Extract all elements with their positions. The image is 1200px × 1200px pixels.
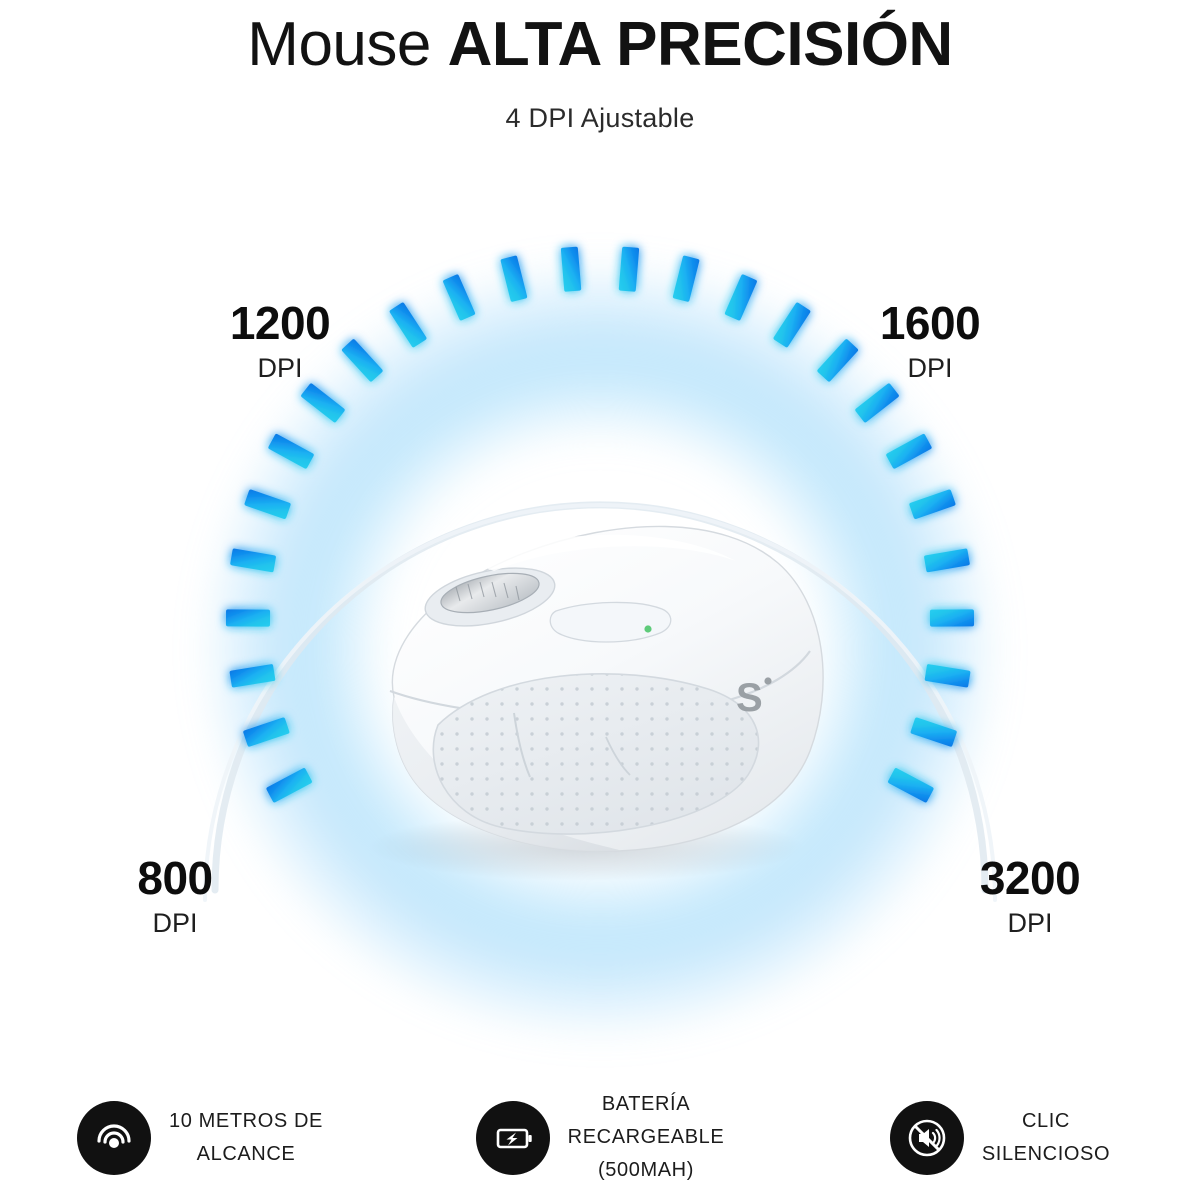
feature-battery: BATERÍA RECARGEABLE (500MAH) [400, 1088, 800, 1187]
arc-tick [909, 489, 956, 520]
arc-tick [244, 489, 291, 520]
arc-tick [561, 247, 582, 292]
arc-tick [389, 302, 427, 348]
dpi-label-1200: 1200 DPI [185, 300, 375, 382]
arc-tick [924, 548, 970, 572]
dpi-value: 1200 [230, 297, 330, 349]
arc-tick [855, 383, 900, 424]
dpi-unit: DPI [80, 910, 270, 937]
led-indicator [644, 625, 651, 632]
feature-row: 10 METROS DE ALCANCE BATERÍA RECARGEABLE… [0, 1075, 1200, 1200]
dpi-unit: DPI [835, 355, 1025, 382]
feature-silent-click: CLIC SILENCIOSO [800, 1101, 1200, 1175]
arc-tick [500, 255, 527, 302]
page-header: Mouse ALTA PRECISIÓN 4 DPI Ajustable [0, 0, 1200, 134]
brand-logo-dot [764, 677, 771, 684]
speaker-muted-icon [890, 1101, 964, 1175]
dpi-label-1600: 1600 DPI [835, 300, 1025, 382]
dpi-button[interactable] [550, 602, 671, 642]
arc-tick [724, 274, 757, 321]
page-title-strong: ALTA PRECISIÓN [448, 10, 953, 79]
mouse-illustration: S [318, 475, 838, 895]
dpi-unit: DPI [930, 910, 1130, 937]
dpi-value: 3200 [980, 852, 1080, 904]
product-image-mouse: S [318, 475, 838, 895]
dpi-dial-stage: 1200 DPI 1600 DPI 800 DPI 3200 DPI [0, 200, 1200, 1030]
feature-range: 10 METROS DE ALCANCE [0, 1101, 400, 1175]
dpi-unit: DPI [185, 355, 375, 382]
arc-tick [886, 433, 933, 469]
arc-tick [619, 247, 640, 292]
dpi-label-800: 800 DPI [80, 855, 270, 937]
arc-tick [442, 274, 475, 321]
dpi-value: 800 [137, 852, 212, 904]
arc-tick [226, 609, 270, 626]
arc-tick [230, 548, 276, 572]
dpi-label-3200: 3200 DPI [930, 855, 1130, 937]
wireless-signal-icon [77, 1101, 151, 1175]
dpi-value: 1600 [880, 297, 980, 349]
arc-tick [268, 433, 315, 469]
feature-label: 10 METROS DE ALCANCE [169, 1105, 323, 1171]
arc-tick [300, 383, 345, 424]
arc-tick [266, 767, 313, 803]
battery-charging-icon [476, 1101, 550, 1175]
arc-tick [887, 767, 934, 803]
arc-tick [672, 255, 699, 302]
page-title-light: Mouse [247, 10, 447, 79]
page-title: Mouse ALTA PRECISIÓN [0, 0, 1200, 77]
feature-label: CLIC SILENCIOSO [982, 1105, 1110, 1171]
brand-logo-letter: S [736, 676, 763, 720]
arc-tick [930, 609, 974, 626]
arc-tick [773, 302, 811, 348]
page-subtitle: 4 DPI Ajustable [0, 77, 1200, 134]
feature-label: BATERÍA RECARGEABLE (500MAH) [568, 1088, 725, 1187]
